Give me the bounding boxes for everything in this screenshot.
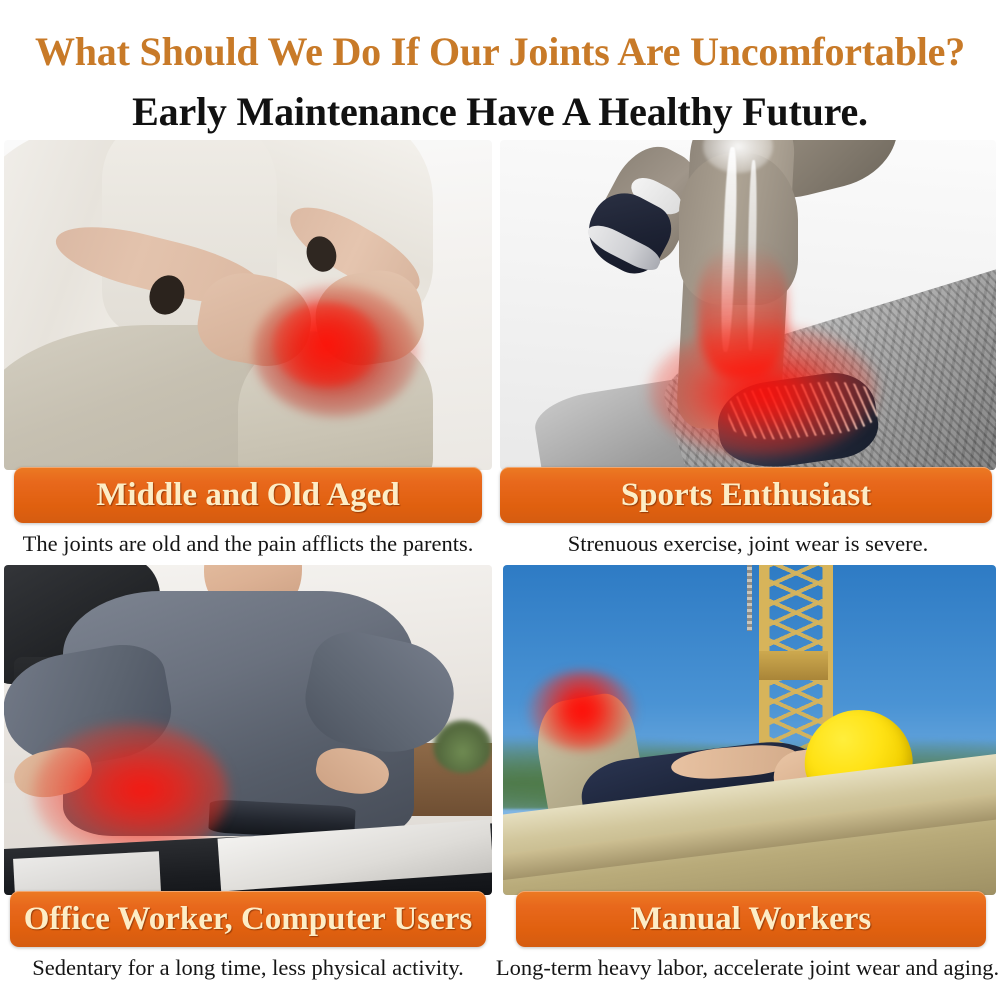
poster-root: What Should We Do If Our Joints Are Unco…: [0, 0, 1000, 1000]
photo-elderly-knee-pain: [4, 140, 492, 470]
panel-manual-workers: [503, 565, 996, 895]
label-banner-sports-enthusiast: Sports Enthusiast: [500, 467, 992, 523]
caption-office-worker-computer-users: Sedentary for a long time, less physical…: [4, 955, 492, 981]
pain-glow-icon: [528, 671, 636, 750]
page-title: What Should We Do If Our Joints Are Unco…: [0, 28, 1000, 75]
caption-manual-workers: Long-term heavy labor, accelerate joint …: [495, 955, 1000, 981]
photo-construction-worker: [503, 565, 996, 895]
label-banner-middle-and-old-aged: Middle and Old Aged: [14, 467, 482, 523]
banner-label: Middle and Old Aged: [96, 479, 400, 512]
documents-left: [13, 852, 161, 895]
crane-cabin: [759, 651, 828, 681]
crane-cable: [747, 565, 752, 631]
label-banner-office-worker-computer-users: Office Worker, Computer Users: [10, 891, 486, 947]
banner-label: Office Worker, Computer Users: [24, 903, 472, 936]
photo-runner-ankle-xray: [500, 140, 996, 470]
banner-label: Manual Workers: [631, 903, 872, 936]
page-subtitle: Early Maintenance Have A Healthy Future.: [0, 88, 1000, 135]
panel-office-worker-computer-users: [4, 565, 492, 895]
pain-glow-core-icon: [272, 302, 379, 388]
panel-middle-and-old-aged: [4, 140, 492, 470]
label-banner-manual-workers: Manual Workers: [516, 891, 986, 947]
photo-office-back-pain: [4, 565, 492, 895]
panel-sports-enthusiast: [500, 140, 996, 470]
banner-label: Sports Enthusiast: [621, 479, 871, 512]
caption-sports-enthusiast: Strenuous exercise, joint wear is severe…: [500, 531, 996, 557]
caption-middle-and-old-aged: The joints are old and the pain afflicts…: [4, 531, 492, 557]
pain-glow-icon: [649, 325, 877, 457]
